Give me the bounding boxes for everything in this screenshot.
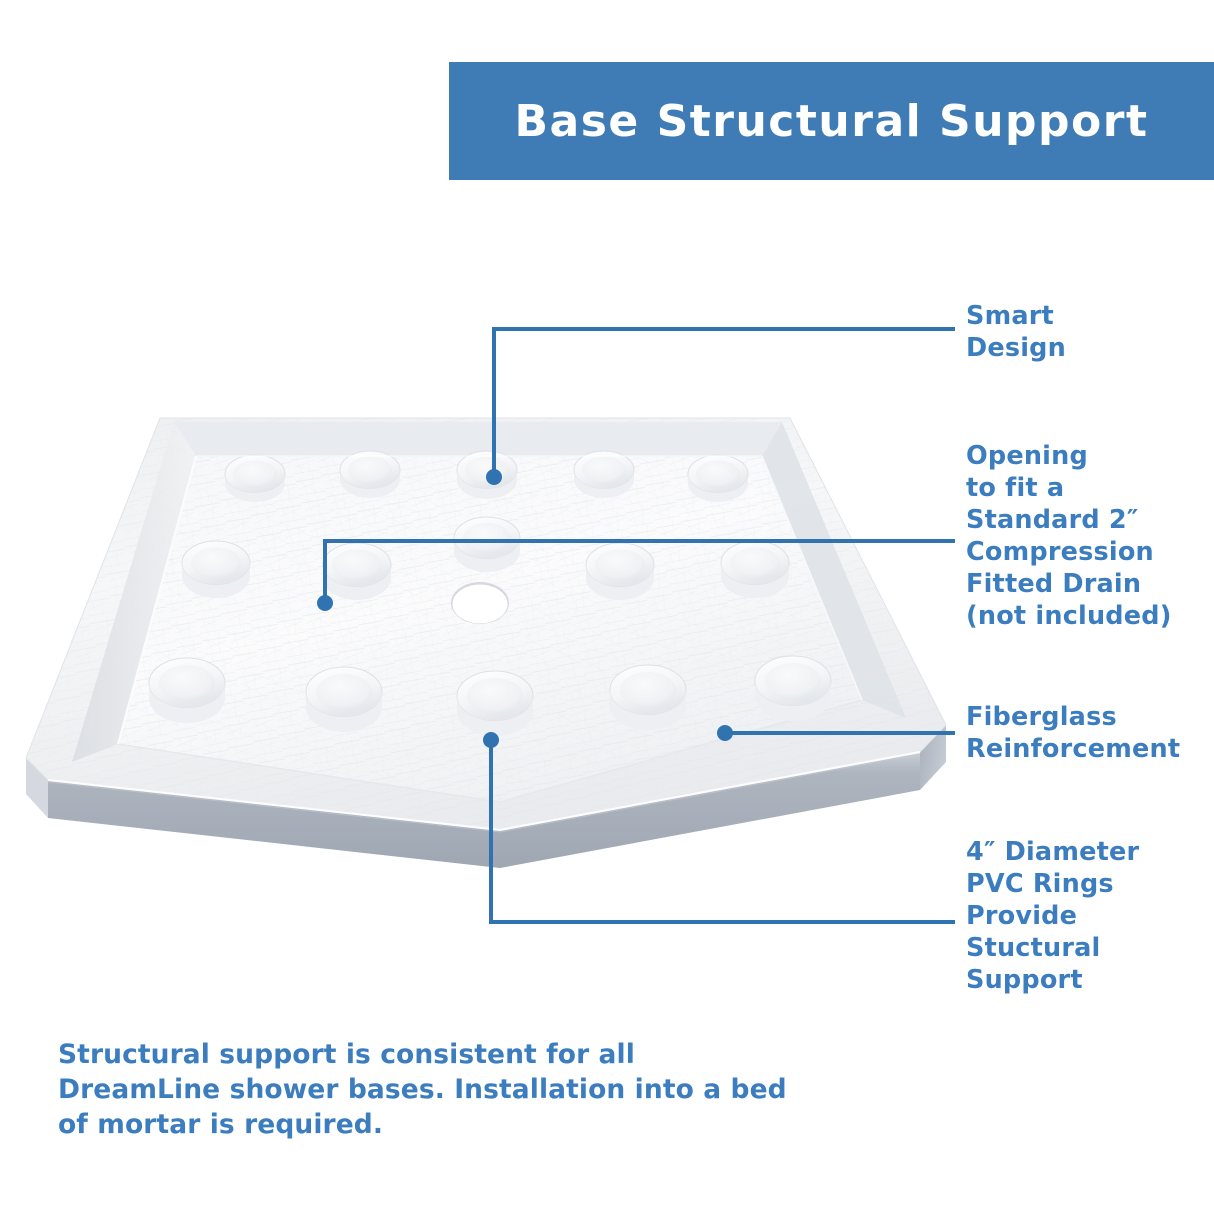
pvc-ring	[454, 517, 520, 572]
rim-back-wall	[174, 422, 782, 456]
pvc-ring	[574, 451, 634, 498]
footer-caption: Structural support is consistent for all…	[58, 1038, 798, 1143]
pvc-ring	[586, 543, 654, 600]
callout-label-opening-drain: Opening to fit a Standard 2″ Compression…	[966, 440, 1214, 632]
callout-label-pvc-rings: 4″ Diameter PVC Rings Provide Stuctural …	[966, 836, 1214, 996]
header-banner: Base Structural Support	[449, 62, 1214, 180]
pvc-ring	[688, 455, 748, 502]
pvc-ring	[182, 541, 250, 598]
pvc-ring	[457, 451, 517, 499]
pvc-ring	[340, 451, 400, 498]
pvc-ring	[306, 667, 382, 732]
product-illustration	[0, 370, 960, 870]
pvc-ring	[225, 455, 285, 502]
drain-opening	[451, 582, 509, 624]
pvc-ring	[323, 543, 391, 600]
callout-label-fiberglass: Fiberglass Reinforcement	[966, 701, 1214, 765]
pvc-ring	[721, 541, 789, 598]
pvc-ring	[610, 665, 686, 730]
shower-base-graphic	[0, 370, 960, 870]
pvc-ring	[149, 658, 225, 723]
infographic-page: Base Structural Support	[0, 0, 1214, 1214]
callout-label-smart-design: Smart Design	[966, 300, 1206, 364]
page-title: Base Structural Support	[514, 96, 1148, 147]
pvc-ring	[457, 671, 533, 736]
pvc-ring	[755, 656, 831, 721]
